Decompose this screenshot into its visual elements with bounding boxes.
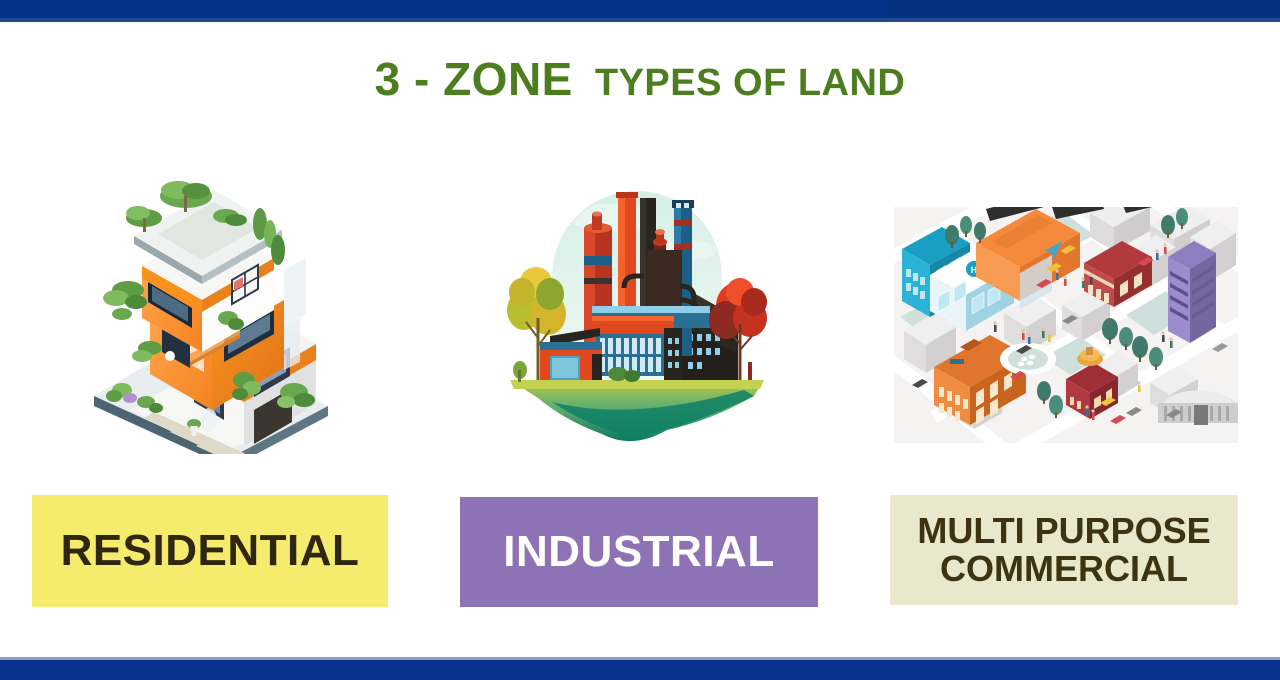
slide-canvas: 3 - ZONETYPES OF LAND	[0, 0, 1280, 680]
zone-label-commercial-line2: COMMERCIAL	[917, 550, 1210, 588]
zone-label-commercial[interactable]: MULTI PURPOSECOMMERCIAL	[890, 495, 1238, 605]
commercial-image: H	[894, 207, 1238, 443]
zone-label-commercial-text: MULTI PURPOSECOMMERCIAL	[917, 512, 1210, 588]
page-title-sub: TYPES OF LAND	[595, 62, 906, 104]
page-title-main: 3 - ZONE	[375, 53, 573, 105]
page-title: 3 - ZONETYPES OF LAND	[0, 52, 1280, 106]
top-accent-bar-right-segment	[888, 0, 1280, 18]
zone-label-commercial-line1: MULTI PURPOSE	[917, 510, 1210, 551]
industrial-image	[492, 158, 782, 454]
bottom-accent-bar	[0, 660, 1280, 680]
top-accent-bar-shadow	[0, 18, 1280, 22]
residential-image	[78, 158, 344, 454]
zone-label-industrial-text: INDUSTRIAL	[503, 529, 774, 576]
zone-label-residential[interactable]: RESIDENTIAL	[32, 495, 388, 607]
zone-label-industrial[interactable]: INDUSTRIAL	[460, 497, 818, 607]
zone-label-residential-text: RESIDENTIAL	[61, 528, 360, 575]
